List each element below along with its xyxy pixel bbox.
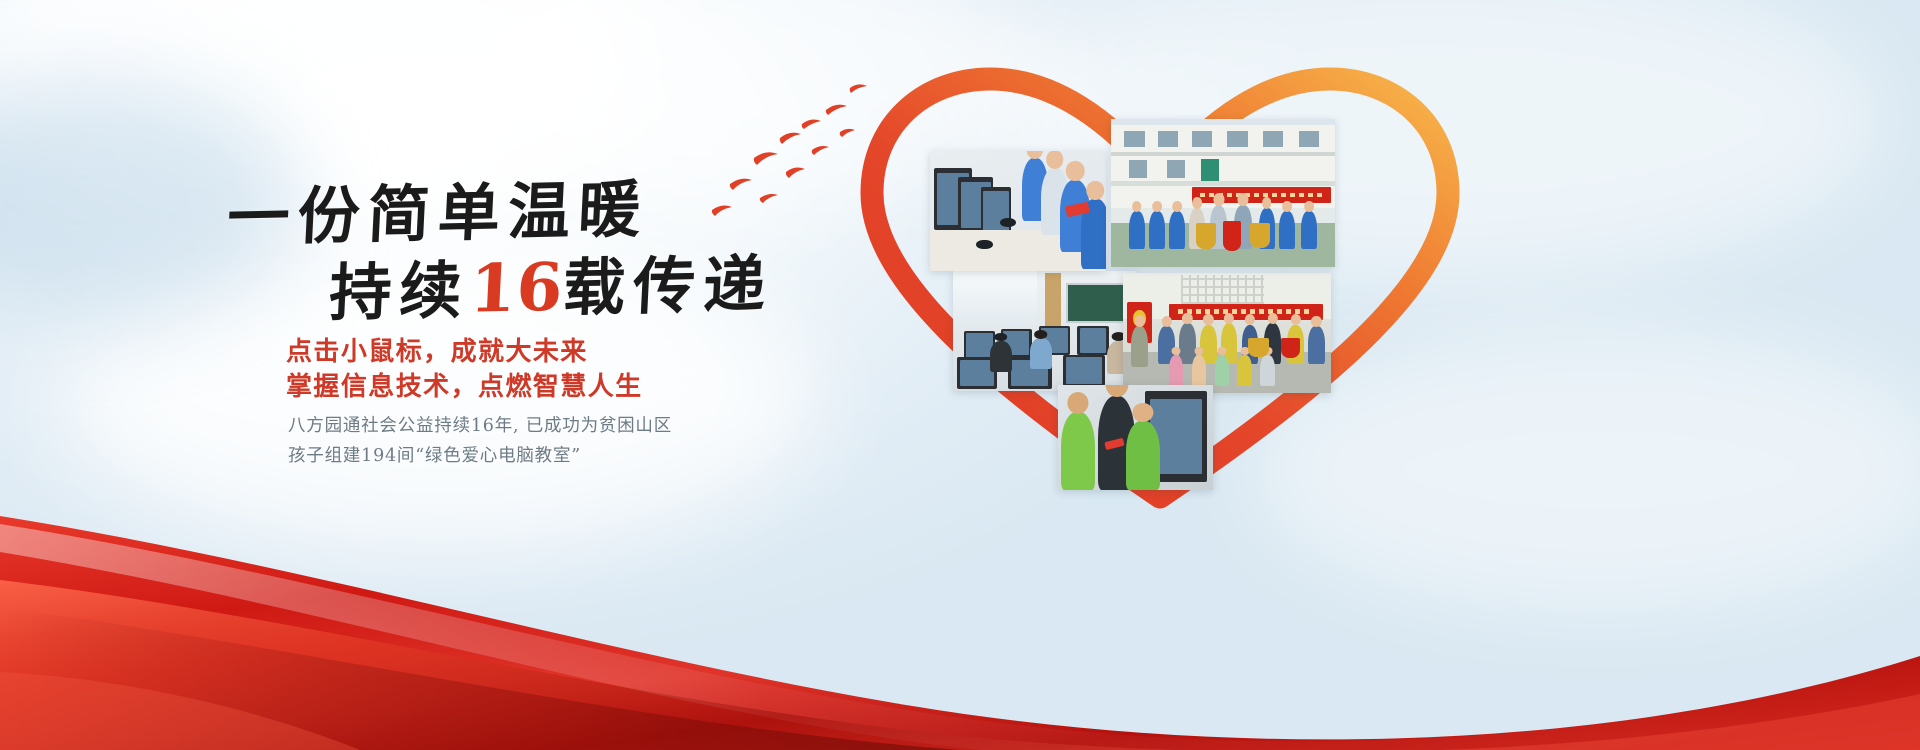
headline-prefix: 持续	[328, 254, 472, 330]
headline-year-number: 16	[468, 248, 565, 328]
charity-banner: 一份简单温暖 持续16载传递 点击小鼠标，成就大未来 掌握信息技术，点燃智慧人生…	[0, 0, 1920, 750]
ribbon-icon	[0, 420, 1920, 750]
photo-classroom[interactable]	[953, 271, 1136, 391]
photo-ceremony-school[interactable]	[1111, 119, 1335, 267]
subtitle-line-2: 掌握信息技术，点燃智慧人生	[286, 366, 643, 403]
subtitle-line-1: 点击小鼠标，成就大未来	[286, 331, 588, 368]
photo-ceremony-gym[interactable]	[1123, 273, 1331, 393]
red-silk-ribbon	[0, 420, 1920, 750]
photo-kids-screen[interactable]	[1058, 385, 1213, 490]
photo-lab-closeup[interactable]	[930, 151, 1106, 271]
